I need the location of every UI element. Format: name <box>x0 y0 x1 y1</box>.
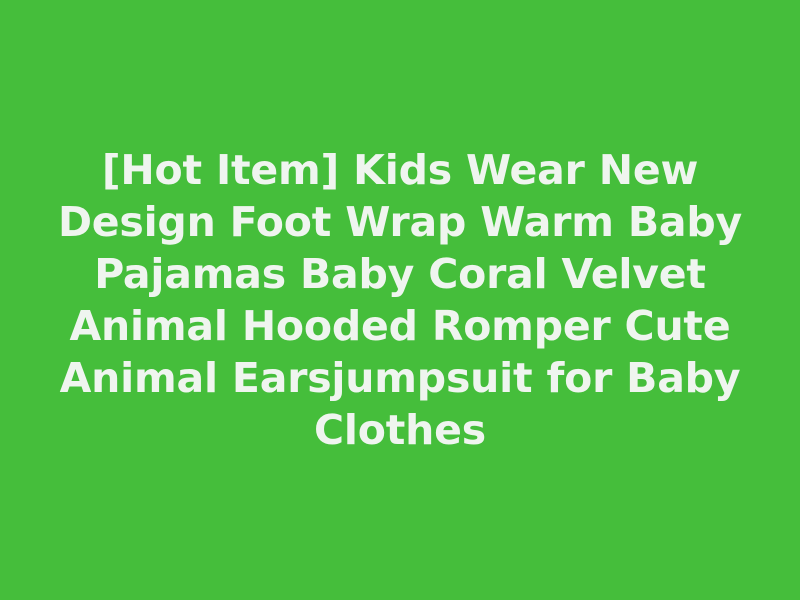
page-canvas: [Hot Item] Kids Wear New Design Foot Wra… <box>0 0 800 600</box>
page-title: [Hot Item] Kids Wear New Design Foot Wra… <box>48 144 752 456</box>
title-block: [Hot Item] Kids Wear New Design Foot Wra… <box>44 144 756 456</box>
